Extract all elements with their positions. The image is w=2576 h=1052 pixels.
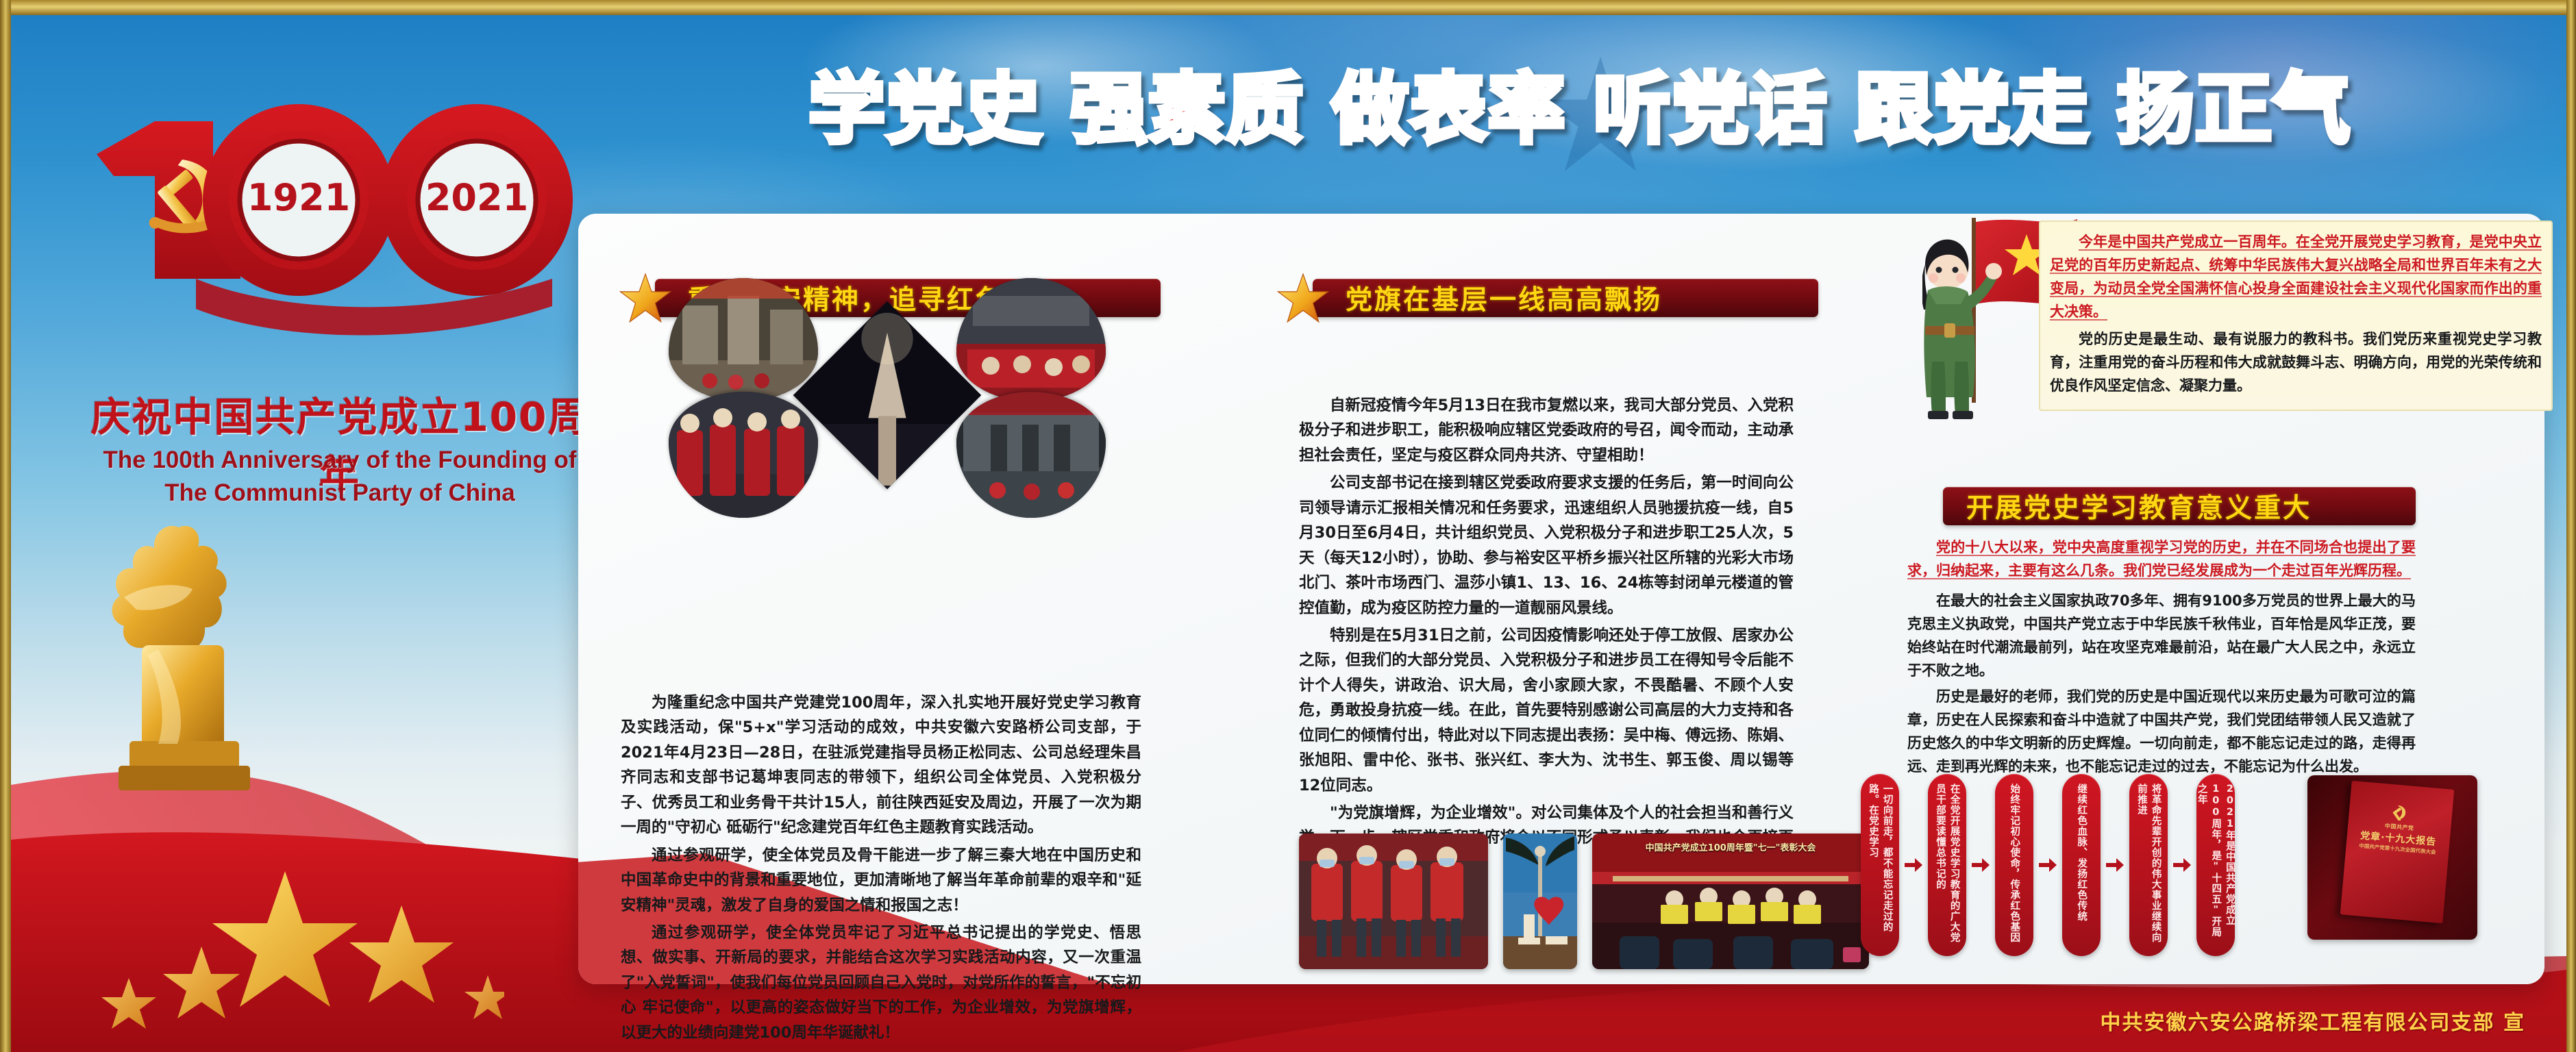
star-icon — [619, 272, 671, 324]
flow-step: 将革命先辈开创的伟大事业继续向前推进 — [2129, 774, 2168, 956]
arrow-right-icon — [2172, 774, 2192, 956]
logo-zone: 1921 2021 庆祝中国共产党成立100周年 The 100th Anniv… — [38, 42, 600, 1001]
flow-step-label: 始终牢记初心使命，传承红色基因 — [2007, 784, 2022, 943]
star-icon — [1277, 272, 1329, 324]
arrow-right-icon — [1903, 774, 1924, 956]
paragraph: 公司支部书记在接到辖区党委政府要求支援的任务后，第一时间向公司领导请示汇报相关情… — [1299, 471, 1794, 621]
study-flow-chart: 一切向前走，都不能忘记走过的路。在党史学习 在全党开展党史学习教育的广大党员干部… — [1861, 774, 2235, 956]
footer-signature: 中共安徽六安公路桥梁工程有限公司支部 宣 — [2101, 1005, 2525, 1036]
right-column-highlight: 党的十八大以来，党中央高度重视学习党的历史，并在不同场合也提出了要求，归纳起来，… — [1907, 536, 2416, 585]
right-column-body: 在最大的社会主义国家执政70多年、拥有9100多万党员的世界上最大的马克思主义执… — [1907, 589, 2416, 781]
section-title-middle: 党旗在基层一线高高飘扬 — [1277, 277, 1818, 319]
gold-stars-decoration — [79, 857, 504, 1049]
paragraph-highlight: 党的十八大以来，党中央高度重视学习党的历史，并在不同场合也提出了要求，归纳起来，… — [1907, 536, 2416, 582]
logo-year-end: 2021 — [425, 176, 528, 219]
photo-thumbnail — [956, 392, 1106, 518]
headline-word: 做表率 — [1332, 71, 1566, 148]
flow-step-label: 继续红色血脉、发扬红色传统 — [2075, 784, 2089, 922]
photo-thumbnail — [669, 392, 818, 518]
section-title-right: 开展党史学习教育意义重大 — [1907, 485, 2416, 527]
right-highlight-box: 今年是中国共产党成立一百周年。在全党开展党史学习教育，是党中央立足党的百年历史新… — [2039, 221, 2553, 411]
arrow-right-icon — [2038, 774, 2058, 956]
photo-city-monument — [1503, 834, 1577, 969]
paragraph: 自新冠疫情今年5月13日在我市复燃以来，我司大部分党员、入党积极分子和进步职工，… — [1299, 393, 1794, 468]
paragraph: 特别是在5月31日之前，公司因疫情影响还处于停工放假、居家办公之际，但我们的大部… — [1299, 623, 1794, 798]
headline-phrase: 扬正气 — [2117, 71, 2351, 148]
golden-statue-illustration — [76, 515, 302, 803]
book-cover: 中国共产党 党章·十九大报告 中国共产党第十九次全国代表大会 — [2340, 781, 2455, 923]
headline-word: 学党史 — [808, 71, 1043, 148]
photo-party-constitution-book: 中国共产党 党章·十九大报告 中国共产党第十九次全国代表大会 — [2307, 775, 2477, 940]
paragraph: 通过参观研学，使全体党员及骨干能进一步了解三秦大地在中国历史和中国革命史中的背景… — [621, 843, 1141, 918]
flow-step: 始终牢记初心使命，传承红色基因 — [1995, 774, 2033, 956]
headline-word: 听党话 — [1594, 71, 1828, 148]
paragraph: 在最大的社会主义国家执政70多年、拥有9100多万党员的世界上最大的马克思主义执… — [1907, 589, 2416, 682]
poster-canvas: 1921 2021 庆祝中国共产党成立100周年 The 100th Anniv… — [11, 15, 2566, 1052]
middle-column-body: 自新冠疫情今年5月13日在我市复燃以来，我司大部分党员、入党积极分子和进步职工，… — [1299, 393, 1794, 878]
bulletin-board: 1921 2021 庆祝中国共产党成立100周年 The 100th Anniv… — [0, 0, 2576, 1052]
headline-phrase: 跟党走 — [1855, 71, 2090, 148]
photo-thumbnail — [669, 278, 818, 401]
logo-year-start: 1921 — [247, 176, 350, 219]
headline-phrase: 学党史 — [808, 71, 1043, 148]
hundred-anniversary-logo: 1921 2021 — [73, 73, 593, 361]
section-title-text: 开展党史学习教育意义重大 — [1966, 487, 2312, 525]
intro-paragraph-wrap: 党的历史是最生动、最有说服力的教科书。我们党历来重视党史学习教育，注重用党的奋斗… — [2050, 327, 2542, 397]
flow-step-label: 一切向前走，都不能忘记走过的路。在党史学习 — [1866, 784, 1894, 947]
paragraph-highlight: 今年是中国共产党成立一百周年。在全党开展党史学习教育，是党中央立足党的百年历史新… — [2050, 230, 2542, 323]
flow-step-label: 在全党开展党史学习教育的广大党员干部要读懂总书记的 — [1933, 784, 1961, 947]
anniversary-title-en-line1: The 100th Anniversary of the Founding of — [76, 447, 604, 474]
flow-step-label: 2021年是中国共产党成立100周年，是"十四五"开局之年 — [2194, 784, 2237, 947]
photo-strip: 中国共产党成立100周年暨"七一"表彰大会 — [1299, 834, 1869, 969]
arrow-right-icon — [1970, 774, 1991, 956]
flow-step-label: 将革命先辈开创的伟大事业继续向前推进 — [2134, 784, 2162, 947]
section-title-bar: 开展党史学习教育意义重大 — [1943, 487, 2416, 525]
main-headline-banner: 学党史 强素质 做表率 听党话 跟党走 扬正气 — [614, 48, 2546, 171]
paragraph: 为隆重纪念中国共产党建党100周年，深入扎实地开展好党史学习教育及实践活动，保"… — [621, 690, 1141, 840]
flow-step: 一切向前走，都不能忘记走过的路。在党史学习 — [1861, 774, 1899, 956]
flow-step: 继续红色血脉、发扬红色传统 — [2062, 774, 2101, 956]
photo-thumbnail — [793, 301, 981, 489]
party-emblem-icon — [2391, 802, 2410, 821]
frame-top-edge — [0, 0, 2576, 15]
headline-word: 强素质 — [1070, 71, 1304, 148]
flow-step: 在全党开展党史学习教育的广大党员干部要读懂总书记的 — [1928, 774, 1966, 956]
anniversary-title-en-line2: The Communist Party of China — [76, 479, 604, 507]
paragraph: 党的历史是最生动、最有说服力的教科书。我们党历来重视党史学习教育，注重用党的奋斗… — [2050, 327, 2542, 397]
frame-left-edge — [0, 0, 11, 1052]
headline-word: 扬正气 — [2117, 71, 2351, 148]
photo-collage-yanan — [669, 268, 1107, 597]
photo-volunteers — [1299, 834, 1488, 969]
headline-phrase: 做表率 — [1332, 71, 1566, 148]
photo-caption: 中国共产党成立100周年暨"七一"表彰大会 — [1592, 840, 1869, 853]
headline-phrase: 听党话 — [1594, 71, 1828, 148]
paragraph: 历史是最好的老师，我们党的历史是中国近现代以来历史最为可歌可泣的篇章，历史在人民… — [1907, 685, 2416, 778]
flow-step: 2021年是中国共产党成立100周年，是"十四五"开局之年 — [2196, 774, 2235, 956]
photo-thumbnail — [956, 278, 1106, 401]
section-title-bar: 党旗在基层一线高高飘扬 — [1313, 279, 1818, 317]
headline-phrase: 强素质 — [1070, 71, 1304, 148]
left-column-body: 为隆重纪念中国共产党建党100周年，深入扎实地开展好党史学习教育及实践活动，保"… — [621, 690, 1141, 1048]
frame-right-edge — [2566, 0, 2576, 1052]
arrow-right-icon — [2105, 774, 2125, 956]
highlight-paragraph-wrap: 今年是中国共产党成立一百周年。在全党开展党史学习教育，是党中央立足党的百年历史新… — [2050, 230, 2542, 323]
section-title-text: 党旗在基层一线高高飘扬 — [1346, 279, 1662, 317]
headline-word: 跟党走 — [1855, 71, 2090, 148]
paragraph: 通过参观研学，使全体党员牢记了习近平总书记提出的学党史、悟思想、做实事、开新局的… — [621, 920, 1141, 1045]
photo-award-ceremony: 中国共产党成立100周年暨"七一"表彰大会 — [1592, 834, 1869, 969]
